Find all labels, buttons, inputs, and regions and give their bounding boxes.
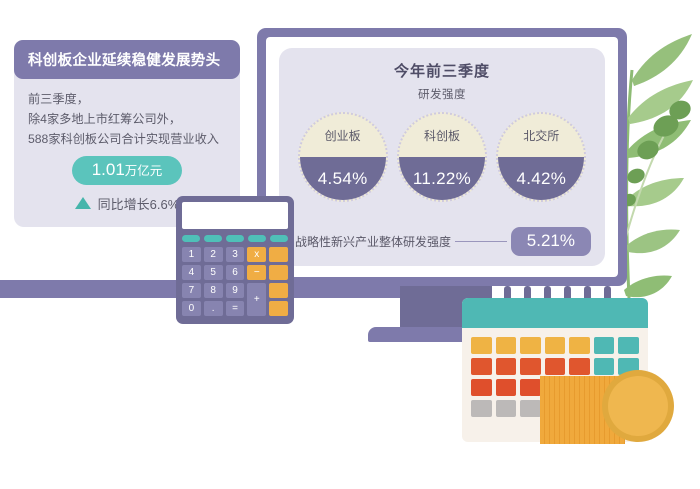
growth-label: 同比增长6.6% — [98, 194, 180, 213]
screen-title: 今年前三季度 — [293, 60, 591, 81]
revenue-value-pill: 1.01万亿元 — [72, 156, 183, 185]
calculator-function-key[interactable] — [248, 235, 266, 242]
calculator-display — [182, 202, 288, 229]
calendar — [462, 286, 672, 446]
calculator-key[interactable]: 3 — [226, 247, 245, 262]
calculator-function-row — [182, 235, 288, 242]
dial-value: 11.22% — [399, 157, 485, 200]
calculator-key-blank[interactable] — [269, 301, 288, 316]
calculator-key[interactable]: 0 — [182, 301, 201, 316]
calculator-key-blank[interactable] — [269, 283, 288, 298]
calculator-key[interactable]: . — [204, 301, 223, 316]
footer-value-pill: 5.21% — [511, 227, 591, 256]
info-body-line-2: 除4家多地上市红筹公司外， — [28, 110, 228, 130]
info-card-title: 科创板企业延续稳健发展势头 — [14, 40, 240, 79]
dial-label: 科创板 — [399, 114, 485, 157]
calculator-function-key[interactable] — [204, 235, 222, 242]
calculator-key-blank[interactable] — [269, 265, 288, 280]
connector-line — [455, 241, 507, 243]
calculator-key-minus[interactable]: − — [247, 265, 266, 280]
calendar-cell — [471, 400, 492, 417]
dial-label: 创业板 — [300, 114, 386, 157]
calendar-cell — [496, 358, 517, 375]
dial-bse: 北交所 4.42% — [496, 112, 586, 202]
calculator-key-plus[interactable]: + — [247, 283, 266, 316]
calculator-key[interactable]: 1 — [182, 247, 201, 262]
calculator-key-multiply[interactable]: x — [247, 247, 266, 262]
infographic-canvas: 科创板企业延续稳健发展势头 前三季度， 除4家多地上市红筹公司外， 588家科创… — [0, 0, 700, 489]
revenue-value: 1.01 — [92, 160, 125, 179]
calculator-key[interactable]: 8 — [204, 283, 223, 298]
calculator-key[interactable]: 7 — [182, 283, 201, 298]
dial-group: 创业板 4.54% 科创板 11.22% 北交所 4.42% — [293, 112, 591, 223]
monitor: 今年前三季度 研发强度 创业板 4.54% 科创板 11.22% 北交所 4.4… — [257, 28, 627, 286]
calculator-key[interactable]: 6 — [226, 265, 245, 280]
highlight-value-wrap: 1.01万亿元 — [14, 156, 240, 185]
revenue-unit: 万亿元 — [125, 164, 163, 178]
calendar-header — [462, 298, 648, 328]
dial-label: 北交所 — [498, 114, 584, 157]
calculator-key[interactable]: 9 — [226, 283, 245, 298]
calculator-function-key[interactable] — [270, 235, 288, 242]
calendar-cell — [520, 379, 541, 396]
screen-footer-row: 战略性新兴产业整体研发强度 5.21% — [293, 227, 591, 256]
coin-icon — [602, 370, 674, 442]
calculator-keypad: 1 2 3 x 4 5 6 − 7 8 9 + 0 . = — [182, 247, 288, 316]
dial-chinext: 创业板 4.54% — [298, 112, 388, 202]
calendar-cell — [520, 400, 541, 417]
dial-star-market: 科创板 11.22% — [397, 112, 487, 202]
calendar-cell — [520, 358, 541, 375]
info-body-line-1: 前三季度， — [28, 90, 228, 110]
calendar-cell — [496, 379, 517, 396]
calculator-function-key[interactable] — [226, 235, 244, 242]
calculator-key-blank[interactable] — [269, 247, 288, 262]
dial-value: 4.42% — [498, 157, 584, 200]
calculator-key[interactable]: 4 — [182, 265, 201, 280]
calendar-cell — [569, 337, 590, 354]
coins-illustration — [540, 370, 672, 446]
calendar-cell — [618, 337, 639, 354]
calculator: 1 2 3 x 4 5 6 − 7 8 9 + 0 . = — [176, 196, 294, 324]
calendar-cell — [594, 337, 615, 354]
monitor-screen: 今年前三季度 研发强度 创业板 4.54% 科创板 11.22% 北交所 4.4… — [266, 37, 618, 277]
calculator-key[interactable]: 2 — [204, 247, 223, 262]
screen-content-card: 今年前三季度 研发强度 创业板 4.54% 科创板 11.22% 北交所 4.4… — [279, 48, 605, 266]
calendar-cell — [520, 337, 541, 354]
triangle-up-icon — [75, 197, 91, 209]
calculator-key[interactable]: 5 — [204, 265, 223, 280]
calculator-key[interactable]: = — [226, 301, 245, 316]
calendar-cell — [496, 400, 517, 417]
info-card-body: 前三季度， 除4家多地上市红筹公司外， 588家科创板公司合计实现营业收入 — [14, 79, 240, 149]
calendar-cell — [496, 337, 517, 354]
info-body-line-3: 588家科创板公司合计实现营业收入 — [28, 130, 228, 150]
calendar-cell — [471, 379, 492, 396]
calendar-cell — [471, 337, 492, 354]
calendar-cell — [545, 337, 566, 354]
calculator-function-key[interactable] — [182, 235, 200, 242]
dial-value: 4.54% — [300, 157, 386, 200]
footer-label: 战略性新兴产业整体研发强度 — [295, 233, 451, 250]
calendar-cell — [471, 358, 492, 375]
screen-subtitle: 研发强度 — [293, 86, 591, 102]
